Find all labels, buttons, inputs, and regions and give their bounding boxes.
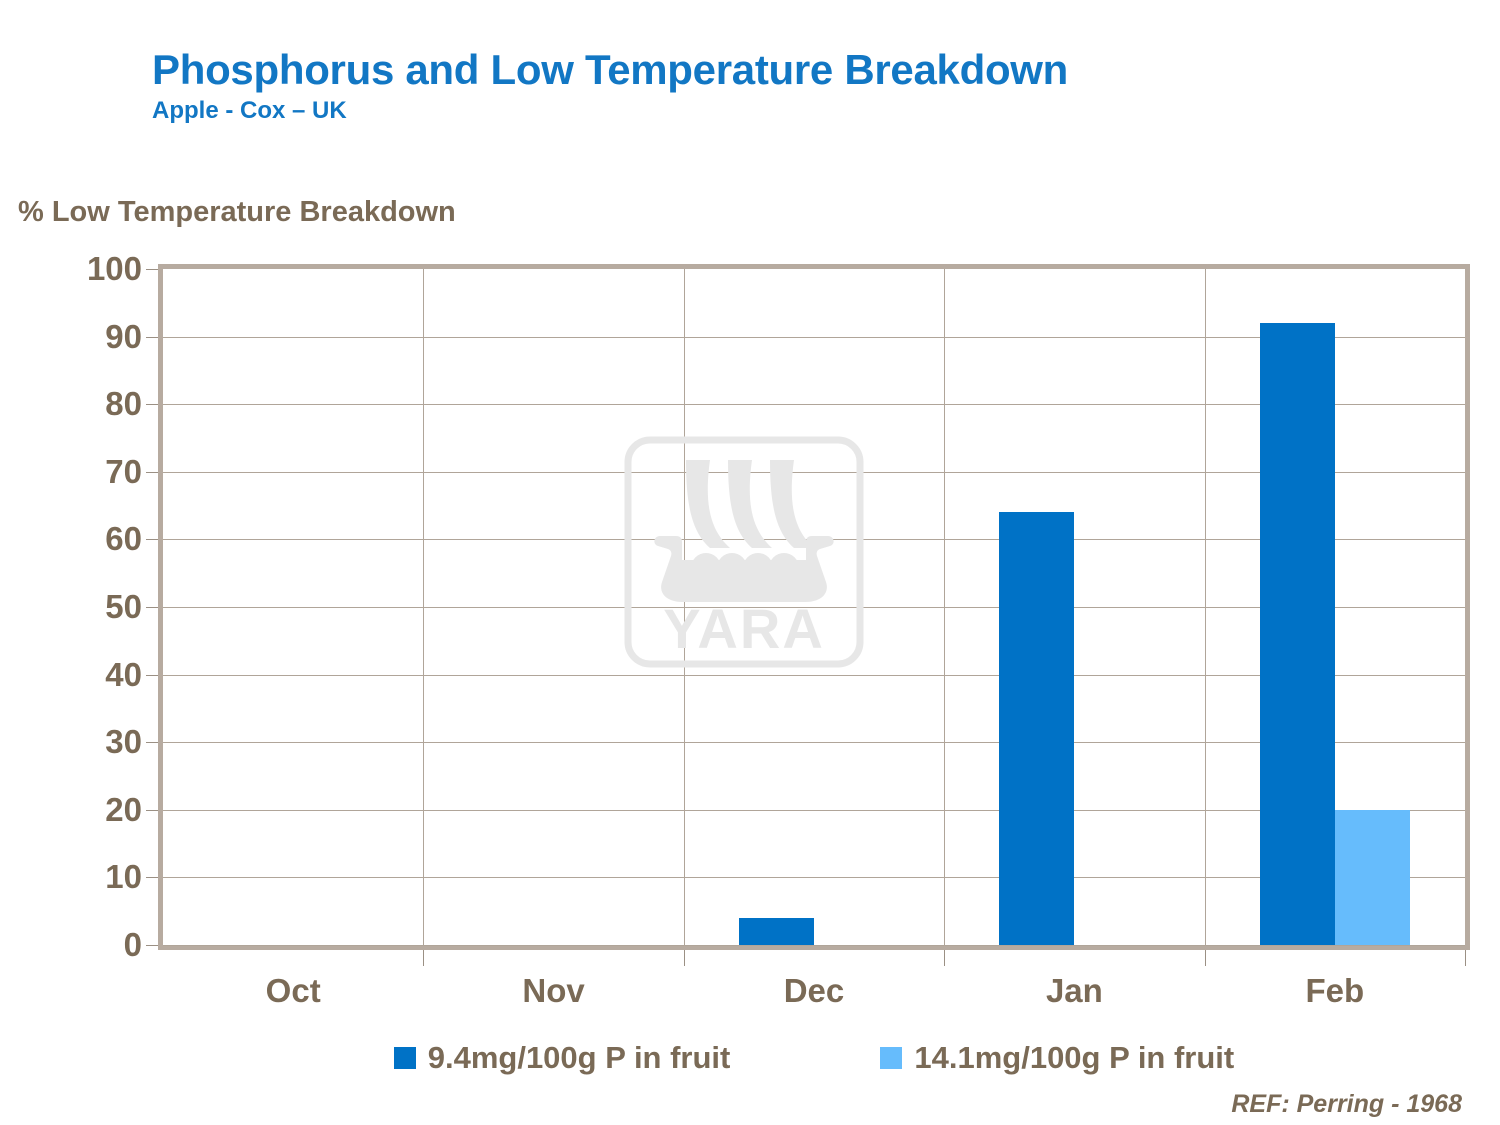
y-tick-label: 90 xyxy=(105,318,142,356)
gridline-0 xyxy=(163,945,1465,946)
y-tick-label: 70 xyxy=(105,453,142,491)
legend-swatch-icon xyxy=(394,1047,416,1069)
x-tick-mark xyxy=(423,950,424,966)
legend-label: 9.4mg/100g P in fruit xyxy=(428,1040,731,1076)
category-divider xyxy=(684,269,685,945)
category-divider xyxy=(944,269,945,945)
y-tick-label: 100 xyxy=(87,250,142,288)
y-tick-label: 20 xyxy=(105,791,142,829)
plot-area xyxy=(158,264,1470,950)
y-tick-mark xyxy=(146,742,158,743)
x-tick-label-nov: Nov xyxy=(522,972,584,1010)
x-tick-mark xyxy=(1205,950,1206,966)
x-tick-mark xyxy=(1465,950,1466,966)
chart-legend: 9.4mg/100g P in fruit14.1mg/100g P in fr… xyxy=(158,1040,1470,1076)
title-block: Phosphorus and Low Temperature Breakdown… xyxy=(152,48,1452,123)
reference-note: REF: Perring - 1968 xyxy=(1231,1090,1462,1119)
y-tick-mark xyxy=(146,675,158,676)
legend-swatch-icon xyxy=(880,1047,902,1069)
y-axis-title: % Low Temperature Breakdown xyxy=(18,196,456,229)
bar-dec-series-1[interactable] xyxy=(739,918,814,945)
y-tick-mark xyxy=(146,607,158,608)
bar-jan-series-1[interactable] xyxy=(999,512,1074,945)
y-tick-mark xyxy=(146,472,158,473)
x-tick-label-dec: Dec xyxy=(784,972,845,1010)
legend-item-1[interactable]: 9.4mg/100g P in fruit xyxy=(394,1040,731,1076)
y-tick-mark xyxy=(146,810,158,811)
y-tick-label: 30 xyxy=(105,723,142,761)
y-tick-label: 80 xyxy=(105,385,142,423)
plot-inner xyxy=(163,269,1465,945)
y-tick-mark xyxy=(146,404,158,405)
y-tick-label: 50 xyxy=(105,588,142,626)
page-title: Phosphorus and Low Temperature Breakdown xyxy=(152,48,1452,92)
x-tick-mark xyxy=(944,950,945,966)
x-tick-label-feb: Feb xyxy=(1305,972,1364,1010)
category-divider xyxy=(423,269,424,945)
y-tick-mark xyxy=(146,337,158,338)
y-tick-mark xyxy=(146,877,158,878)
page-subtitle: Apple - Cox – UK xyxy=(152,98,1452,123)
y-tick-mark xyxy=(146,269,158,270)
legend-label: 14.1mg/100g P in fruit xyxy=(914,1040,1234,1076)
x-tick-label-jan: Jan xyxy=(1046,972,1103,1010)
y-tick-label: 60 xyxy=(105,520,142,558)
y-tick-mark xyxy=(146,945,158,946)
y-tick-mark xyxy=(146,539,158,540)
y-tick-label: 0 xyxy=(124,926,142,964)
y-tick-label: 40 xyxy=(105,656,142,694)
bar-feb-series-1[interactable] xyxy=(1260,323,1335,945)
y-tick-label: 10 xyxy=(105,858,142,896)
legend-item-2[interactable]: 14.1mg/100g P in fruit xyxy=(880,1040,1234,1076)
x-tick-label-oct: Oct xyxy=(266,972,321,1010)
category-divider xyxy=(1205,269,1206,945)
x-tick-mark xyxy=(684,950,685,966)
bar-feb-series-2[interactable] xyxy=(1335,810,1410,945)
